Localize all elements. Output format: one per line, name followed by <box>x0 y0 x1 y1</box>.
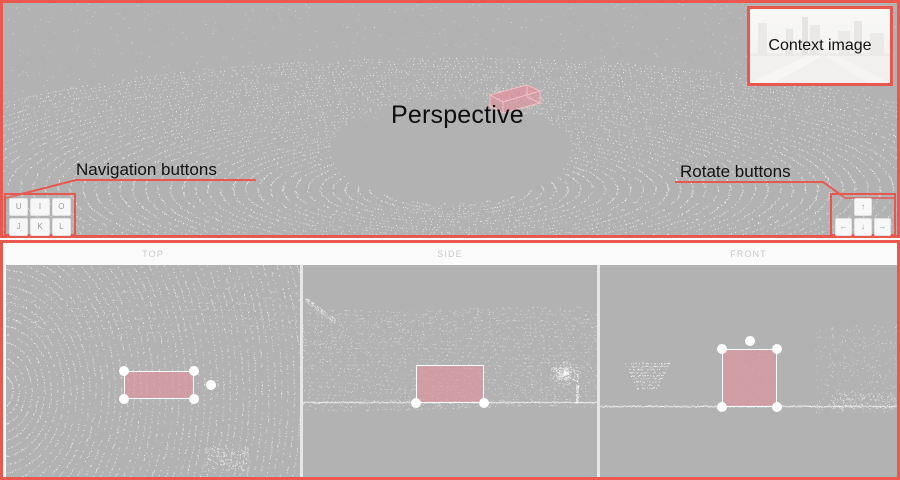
context-image-label: Context image <box>750 9 890 83</box>
handle-front-view-tl[interactable] <box>717 344 727 354</box>
handle-front-view-bl[interactable] <box>717 402 727 412</box>
rotate-buttons-row-top: ↑ <box>835 198 891 216</box>
nav-key-l[interactable]: L <box>52 218 71 236</box>
rotate-key-spacer-right <box>874 198 891 216</box>
navigation-buttons-row-bottom: J K L <box>9 218 71 236</box>
rotate-buttons-row-bottom: ← ↓ → <box>835 218 891 236</box>
bounding-box-side-view[interactable] <box>416 365 484 403</box>
rotate-callout-label: Rotate buttons <box>680 162 791 182</box>
handle-top-view-bl[interactable] <box>119 394 129 404</box>
handle-front-view-tr[interactable] <box>772 344 782 354</box>
annotation-tool-window: Perspective Navigation buttons Rotate bu… <box>0 0 900 480</box>
context-image-panel[interactable]: Context image <box>747 6 893 86</box>
nav-key-o[interactable]: O <box>52 198 71 216</box>
handle-front-view-br[interactable] <box>772 402 782 412</box>
navigation-callout-label: Navigation buttons <box>76 160 217 180</box>
projection-divider-2 <box>597 265 600 477</box>
projection-header-side: SIDE <box>303 243 597 265</box>
arrow-down-icon[interactable]: ↓ <box>854 218 871 236</box>
bounding-box-front-view[interactable] <box>722 349 777 407</box>
nav-key-k[interactable]: K <box>30 218 49 236</box>
rotate-key-spacer-left <box>835 198 852 216</box>
navigation-buttons-row-top: U I O <box>9 198 71 216</box>
nav-key-j[interactable]: J <box>9 218 28 236</box>
perspective-label: Perspective <box>391 101 524 130</box>
nav-key-u[interactable]: U <box>9 198 28 216</box>
rotate-buttons-group[interactable]: ↑ ← ↓ → <box>830 193 896 236</box>
handle-side-view-br[interactable] <box>479 398 489 408</box>
projection-view-side[interactable] <box>303 265 597 477</box>
projection-header-front: FRONT <box>600 243 897 265</box>
arrow-up-icon[interactable]: ↑ <box>854 198 871 216</box>
arrow-right-icon[interactable]: → <box>874 218 891 236</box>
handle-top-view-tl[interactable] <box>119 366 129 376</box>
handle-top-view-br[interactable] <box>189 394 199 404</box>
arrow-left-icon[interactable]: ← <box>835 218 852 236</box>
handle-front-view-rotation[interactable] <box>745 336 755 346</box>
nav-key-i[interactable]: I <box>30 198 49 216</box>
handle-top-view-tr[interactable] <box>189 366 199 376</box>
navigation-buttons-group[interactable]: U I O J K L <box>4 193 76 236</box>
projections-panel[interactable]: TOP SIDE FRONT <box>0 240 900 480</box>
projection-view-front[interactable] <box>600 265 897 477</box>
handle-top-view-heading[interactable] <box>206 380 216 390</box>
handle-side-view-bl[interactable] <box>411 398 421 408</box>
projection-divider-1 <box>300 265 303 477</box>
projection-header-top: TOP <box>6 243 300 265</box>
projection-view-top[interactable] <box>6 265 300 477</box>
bounding-box-top-view[interactable] <box>124 371 194 399</box>
